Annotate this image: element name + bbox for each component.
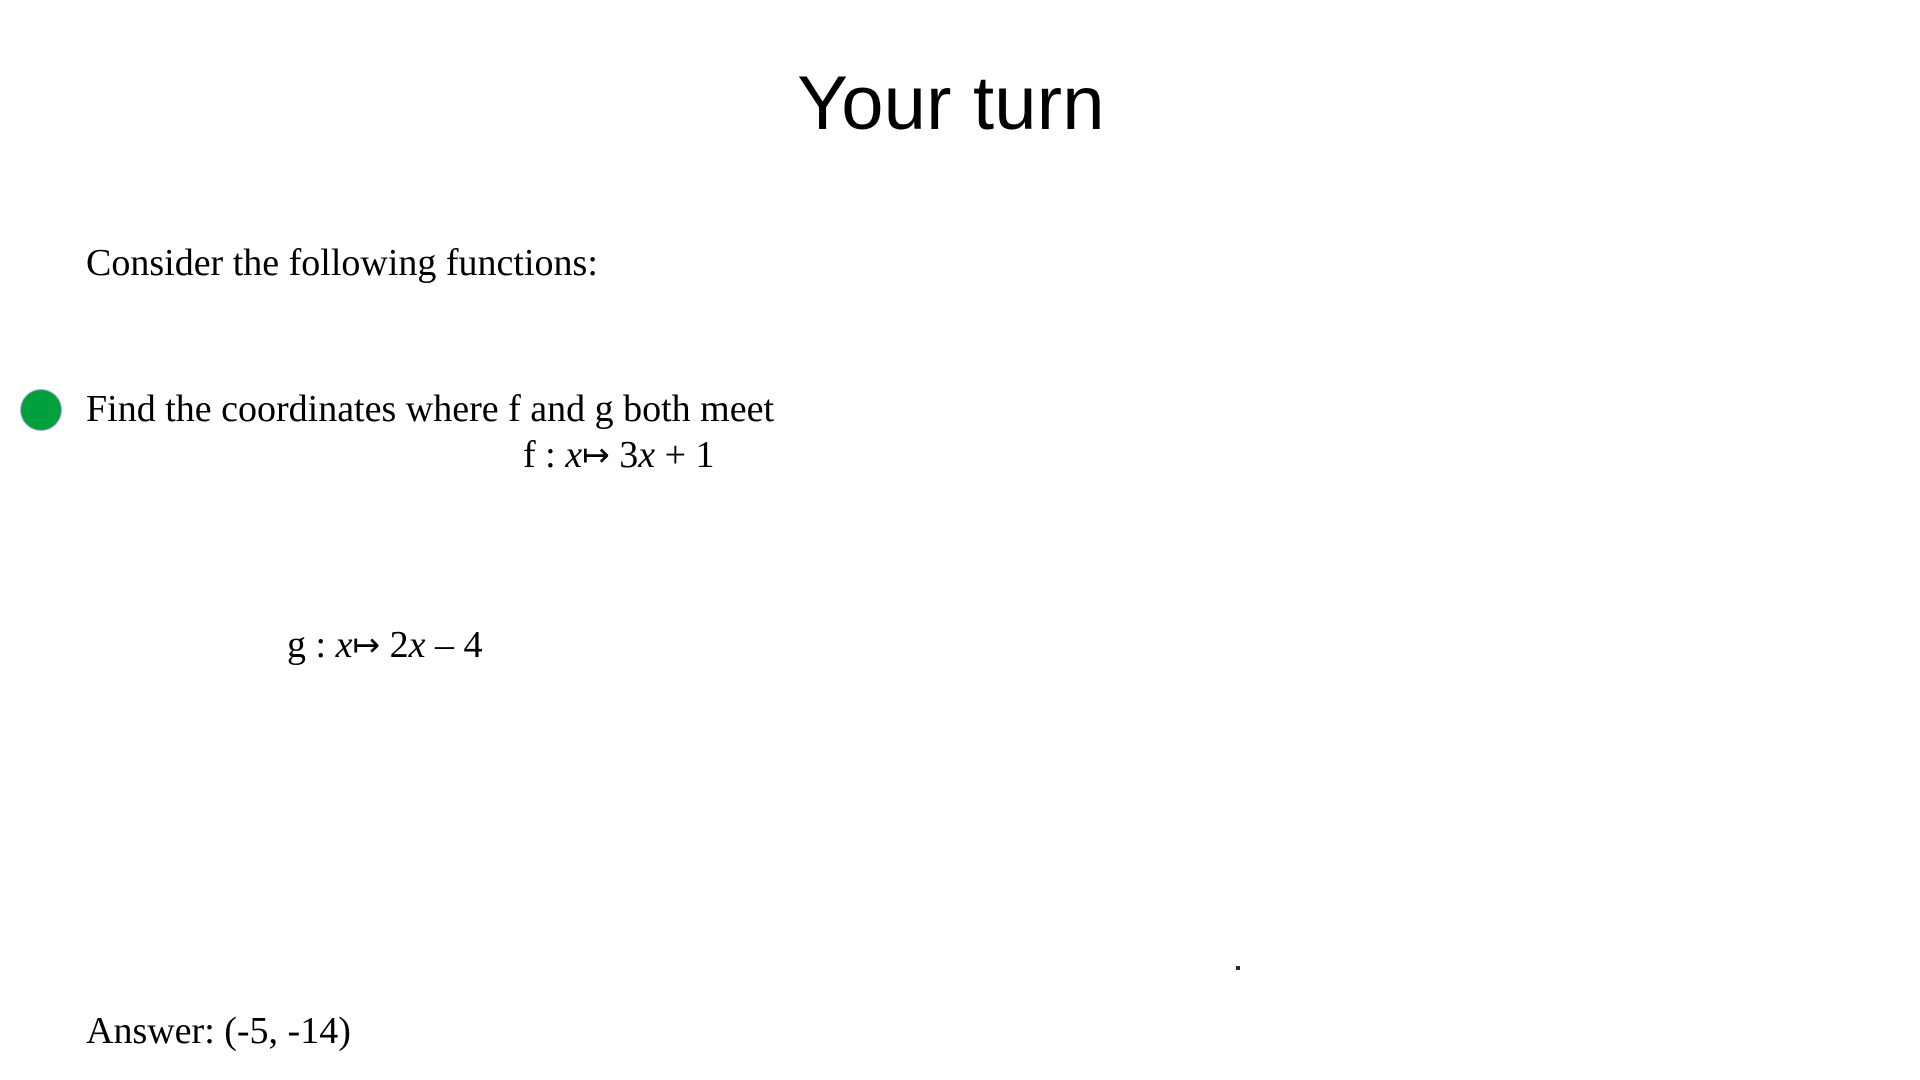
function-g-expression-variable: x bbox=[409, 624, 426, 666]
function-g-colon: : bbox=[306, 624, 336, 666]
green-circle-bullet-icon bbox=[21, 390, 61, 430]
function-g-name: g bbox=[287, 624, 306, 666]
page-title: Your turn bbox=[0, 62, 1920, 146]
function-g-expression-prefix: 2 bbox=[380, 624, 409, 666]
answer-text: Answer: (-5, -14) bbox=[86, 1008, 351, 1056]
function-g-expression-suffix: – 4 bbox=[425, 624, 482, 666]
maps-to-arrow-icon: ↦ bbox=[352, 625, 380, 664]
slide-canvas: Your turn Consider the following functio… bbox=[0, 0, 1920, 1080]
function-definition-g: g : x↦ 2x – 4 bbox=[230, 574, 482, 717]
function-definitions-row: f : x↦ 3x + 1 g : x↦ 2x – 4 bbox=[86, 289, 1786, 812]
function-g-variable: x bbox=[336, 624, 353, 666]
stray-period-mark bbox=[1236, 966, 1240, 970]
intro-text: Consider the following functions: bbox=[86, 240, 598, 288]
task-text: Find the coordinates where f and g both … bbox=[86, 386, 774, 434]
task-bullet-row: Find the coordinates where f and g both … bbox=[0, 386, 1920, 442]
